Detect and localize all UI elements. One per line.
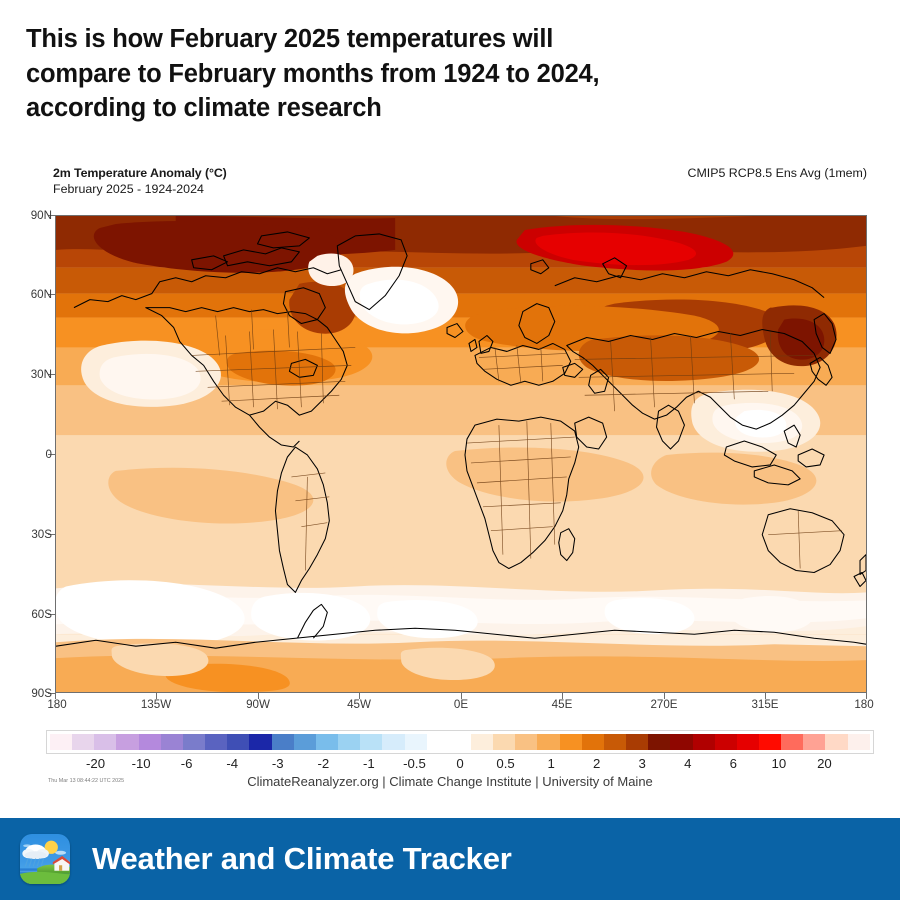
colorbar-label-3: 3 (639, 756, 646, 771)
colorbar-segment-31 (737, 734, 759, 750)
y-axis-label-60s: 60S (31, 608, 52, 621)
figure-subtitle: February 2025 - 1924-2024 (53, 182, 227, 196)
colorbar-segment-23 (560, 734, 582, 750)
colorbar-segment-26 (626, 734, 648, 750)
map-canvas (56, 216, 866, 692)
x-axis-label-90w: 90W (246, 698, 270, 711)
colorbar-segment-9 (249, 734, 271, 750)
y-axis-label-90n: 90N (31, 209, 52, 222)
y-axis-label-60n: 60N (31, 288, 52, 301)
colorbar-label-6: 6 (730, 756, 737, 771)
colorbar-label-0_5: 0.5 (496, 756, 514, 771)
colorbar-label-neg2: -2 (317, 756, 329, 771)
colorbar-segment-34 (803, 734, 825, 750)
x-axis-label-270e: 270E (650, 698, 677, 711)
x-axis-label-180w: 180 (47, 698, 66, 711)
colorbar-segment-32 (759, 734, 781, 750)
colorbar-segment-22 (537, 734, 559, 750)
colorbar-label-2: 2 (593, 756, 600, 771)
colorbar-label-neg3: -3 (272, 756, 284, 771)
x-axis-label-315e: 315E (751, 698, 778, 711)
climate-map-figure: 2m Temperature Anomaly (°C) February 202… (0, 152, 900, 812)
colorbar-segment-21 (515, 734, 537, 750)
figure-title: 2m Temperature Anomaly (°C) (53, 166, 227, 180)
figure-dataset-label: CMIP5 RCP8.5 Ens Avg (1mem) (688, 166, 868, 180)
colorbar-segment-4 (139, 734, 161, 750)
colorbar-label-10: 10 (772, 756, 787, 771)
banner-title: Weather and Climate Tracker (92, 841, 512, 877)
x-axis-label-135w: 135W (141, 698, 171, 711)
y-axis-label-30n: 30N (31, 368, 52, 381)
colorbar-label-20: 20 (817, 756, 832, 771)
colorbar-label-neg10: -10 (132, 756, 151, 771)
y-axis-label-30s: 30S (31, 528, 52, 541)
figure-header-left: 2m Temperature Anomaly (°C) February 202… (53, 166, 227, 196)
colorbar-segment-20 (493, 734, 515, 750)
headline-line-2: compare to February months from 1924 to … (26, 57, 874, 92)
colorbar-segment-33 (781, 734, 803, 750)
source-credit: ClimateReanalyzer.org | Climate Change I… (0, 774, 900, 789)
colorbar-segment-27 (648, 734, 670, 750)
colorbar-segment-8 (227, 734, 249, 750)
weather-app-icon[interactable] (20, 834, 70, 884)
colorbar-segment-25 (604, 734, 626, 750)
colorbar-segment-1 (72, 734, 94, 750)
colorbar-segment-24 (582, 734, 604, 750)
colorbar-segment-35 (825, 734, 847, 750)
colorbar-segment-5 (161, 734, 183, 750)
colorbar-segment-13 (338, 734, 360, 750)
colorbar-segment-12 (316, 734, 338, 750)
x-axis-label-0e: 0E (454, 698, 468, 711)
colorbar-segment-7 (205, 734, 227, 750)
x-axis-label-180e: 180 (854, 698, 873, 711)
colorbar-label-neg1: -1 (363, 756, 375, 771)
colorbar (46, 730, 874, 754)
colorbar-segment-18 (449, 734, 471, 750)
colorbar-label-neg6: -6 (181, 756, 193, 771)
colorbar-segment-2 (94, 734, 116, 750)
colorbar-segment-15 (382, 734, 404, 750)
colorbar-segment-14 (360, 734, 382, 750)
page-headline: This is how February 2025 temperatures w… (0, 0, 900, 126)
colorbar-segment-28 (670, 734, 692, 750)
colorbar-label-0: 0 (456, 756, 463, 771)
colorbar-segment-11 (294, 734, 316, 750)
colorbar-tick-labels: -20-10-6-4-3-2-1-0.500.5123461020 (46, 756, 874, 776)
headline-line-1: This is how February 2025 temperatures w… (26, 22, 874, 57)
colorbar-segment-0 (50, 734, 72, 750)
colorbar-segments (50, 734, 870, 750)
colorbar-segment-17 (427, 734, 449, 750)
weather-app-icon-art (20, 834, 70, 884)
colorbar-segment-19 (471, 734, 493, 750)
colorbar-label-neg0_5: -0.5 (403, 756, 426, 771)
colorbar-segment-10 (272, 734, 294, 750)
app-banner: Weather and Climate Tracker (0, 818, 900, 900)
headline-line-3: according to climate research (26, 91, 874, 126)
colorbar-segment-6 (183, 734, 205, 750)
colorbar-segment-16 (405, 734, 427, 750)
colorbar-label-4: 4 (684, 756, 691, 771)
y-axis-label-0: 0 (46, 448, 52, 461)
colorbar-segment-30 (715, 734, 737, 750)
colorbar-label-neg20: -20 (86, 756, 105, 771)
colorbar-segment-29 (693, 734, 715, 750)
x-axis-label-45w: 45W (347, 698, 371, 711)
world-anomaly-map (55, 215, 867, 693)
colorbar-segment-3 (116, 734, 138, 750)
colorbar-label-neg4: -4 (226, 756, 238, 771)
colorbar-segment-36 (848, 734, 870, 750)
x-axis-label-45e: 45E (552, 698, 573, 711)
colorbar-label-1: 1 (547, 756, 554, 771)
